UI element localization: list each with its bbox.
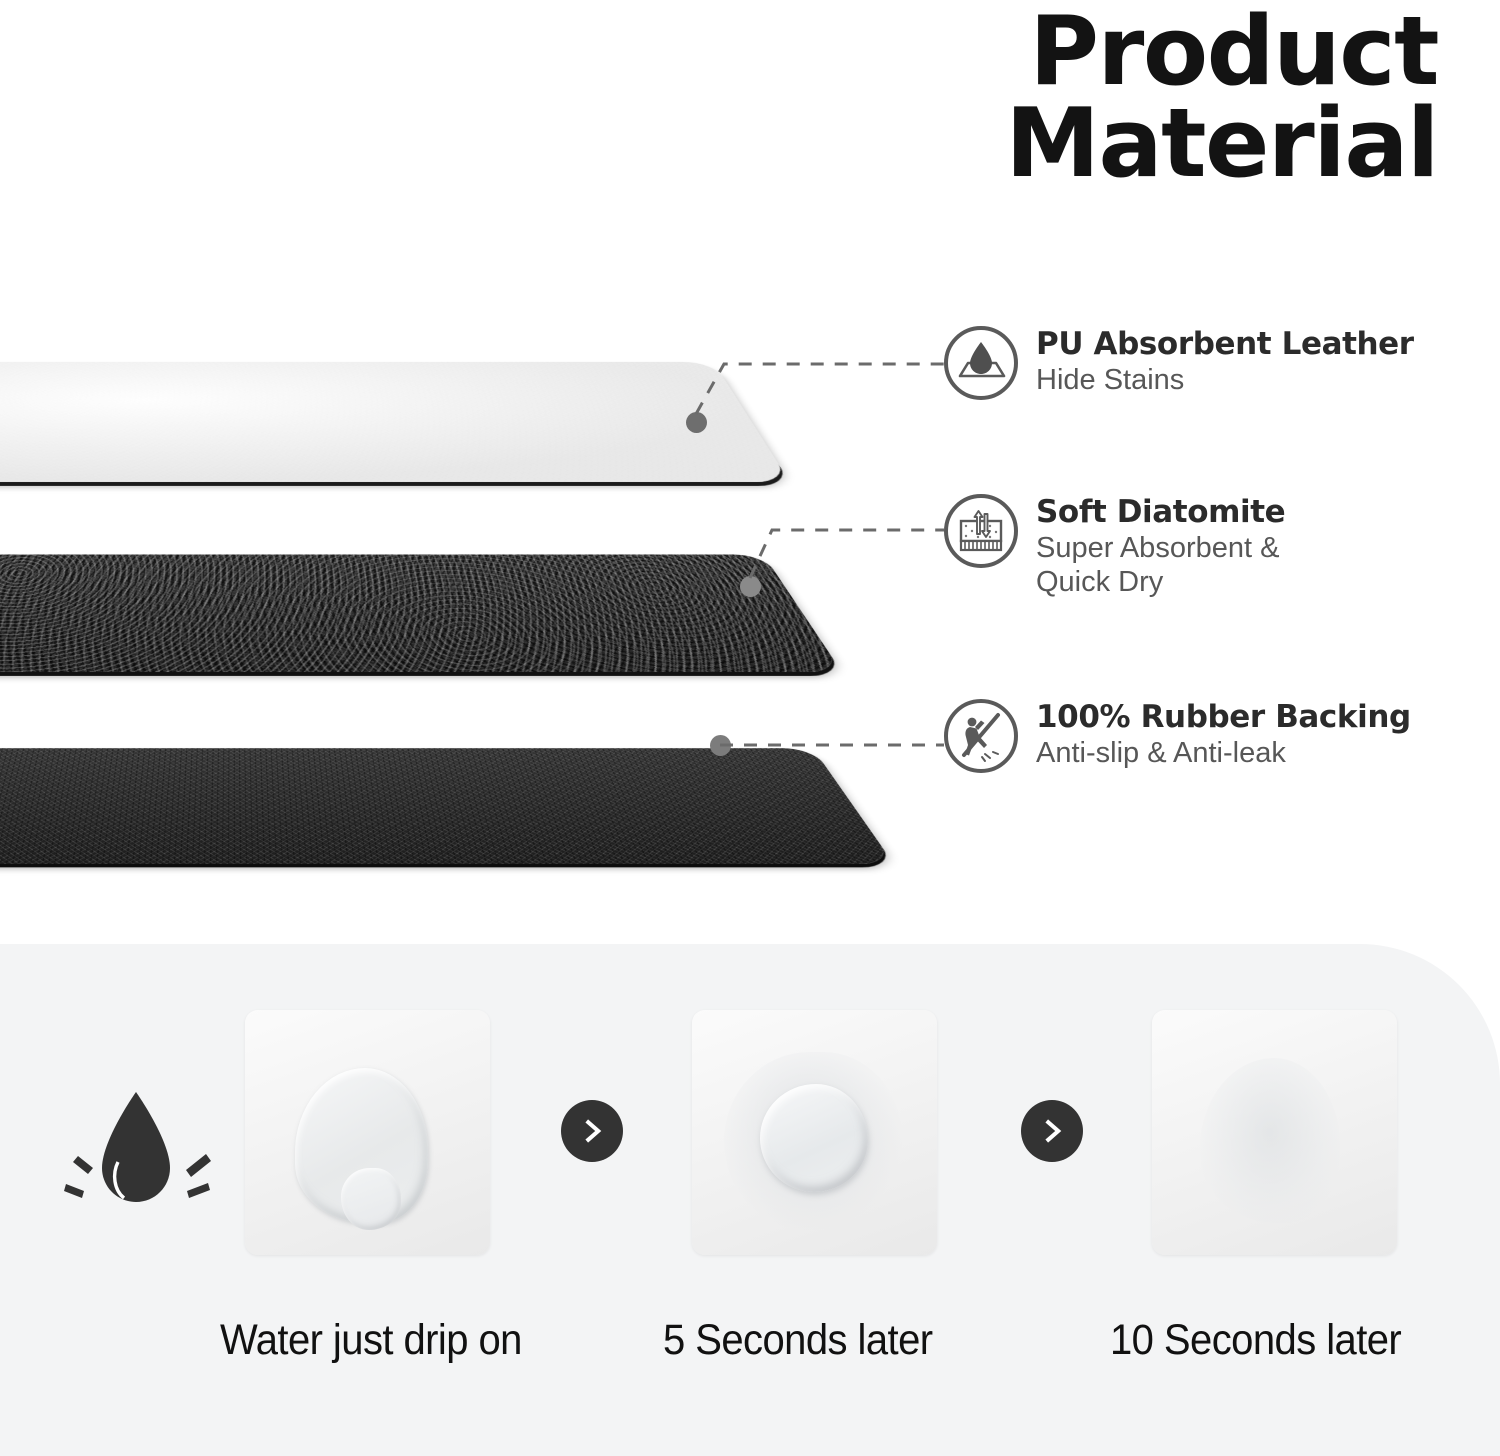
water-drop-on-mat-icon [940,322,1022,404]
feature-text-block: 100% Rubber Backing Anti-slip & Anti-lea… [1036,695,1411,771]
water-bead-contracted [760,1084,868,1192]
water-puddle-tail [341,1168,401,1230]
water-splash-drop-icon [56,1088,216,1218]
demo-sequence [0,1000,1500,1250]
feature-title: 100% Rubber Backing [1036,700,1411,735]
feature-title: PU Absorbent Leather [1036,327,1414,362]
feature-subtitle-line: Super Absorbent & [1036,532,1285,566]
feature-soft-diatomite: Soft Diatomite Super Absorbent & Quick D… [940,490,1285,600]
diatomite-surface-texture [0,554,842,672]
demo-caption-step-2: 5 Seconds later [663,1316,933,1365]
demo-caption-step-1: Water just drip on [220,1316,522,1365]
feature-text-block: Soft Diatomite Super Absorbent & Quick D… [1036,490,1285,600]
callout-dot-leather [686,412,707,433]
product-layer-stack [0,236,870,806]
page-title-line-2: Material [738,98,1438,190]
rubber-surface-texture [0,748,894,864]
feature-subtitle: Hide Stains [1036,364,1414,398]
leather-surface-texture [0,362,790,482]
demo-caption-step-3: 10 Seconds later [1110,1316,1401,1365]
feature-pu-absorbent-leather: PU Absorbent Leather Hide Stains [940,322,1414,404]
feature-title: Soft Diatomite [1036,495,1285,530]
demo-captions: Water just drip on 5 Seconds later 10 Se… [0,1316,1500,1386]
callout-dot-diatomite [740,576,761,597]
no-slipping-person-icon [940,695,1022,777]
feature-subtitle-line: Quick Dry [1036,566,1285,600]
page-title: Product Material [738,0,1438,190]
feature-rubber-backing: 100% Rubber Backing Anti-slip & Anti-lea… [940,695,1411,777]
chevron-right-icon-1 [561,1100,623,1162]
rubber-backing-layer [0,748,894,864]
demo-photo-step-2 [692,1010,937,1255]
pu-absorbent-leather-layer [0,362,790,482]
callout-dot-rubber [710,735,731,756]
demo-photo-step-1 [245,1010,490,1255]
feature-subtitle: Super Absorbent & Quick Dry [1036,532,1285,600]
soft-diatomite-layer [0,554,842,672]
feature-subtitle-line: Hide Stains [1036,364,1414,398]
demo-photo-step-3 [1152,1010,1397,1255]
feature-subtitle-line: Anti-slip & Anti-leak [1036,737,1411,771]
chevron-right-icon-2 [1021,1100,1083,1162]
water-absorption-demo-panel: Water just drip on 5 Seconds later 10 Se… [0,944,1500,1456]
absorbent-layer-arrows-icon [940,490,1022,572]
feature-subtitle: Anti-slip & Anti-leak [1036,737,1411,771]
page-title-line-1: Product [738,0,1438,98]
feature-text-block: PU Absorbent Leather Hide Stains [1036,322,1414,398]
faint-damp-mark [1200,1058,1340,1223]
